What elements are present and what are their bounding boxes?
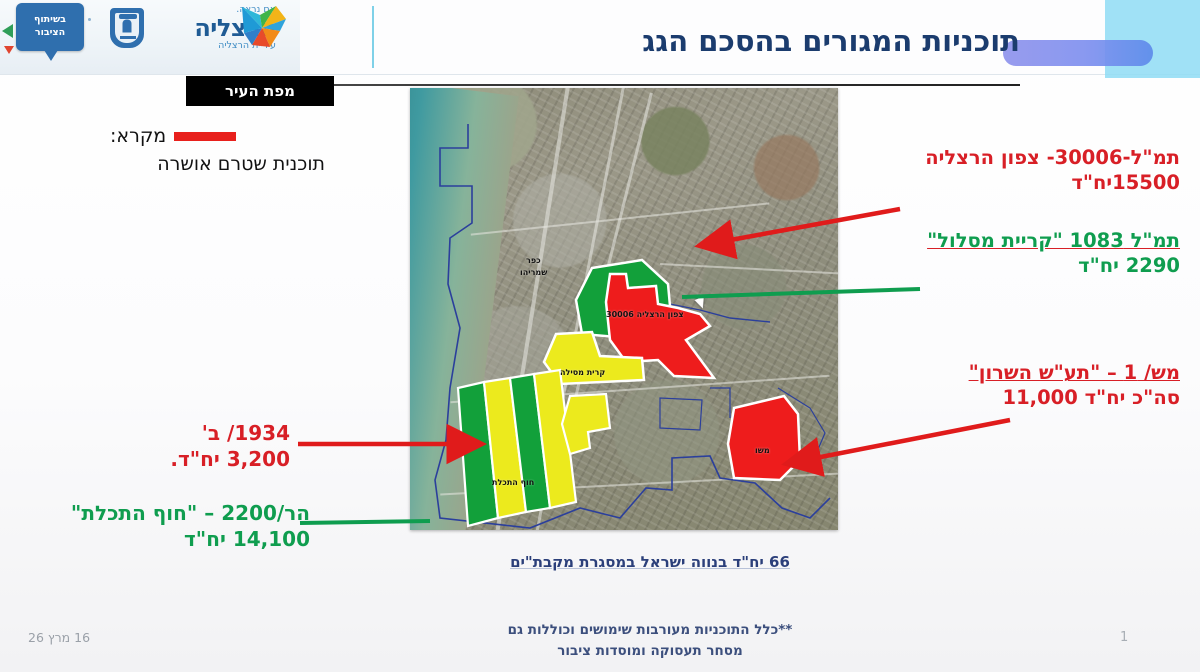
annotation-kiryat-maslul-line2: 2290 יח"ד xyxy=(880,253,1180,278)
map-label-kiryat-maslul: קרית מסילה xyxy=(560,368,605,377)
footer-note-line1: **כלל התוכניות מעורבות שימושים וכוללות ג… xyxy=(380,620,920,641)
annotation-taash-hasharon-line2: סה"כ יח"ד 11,000 xyxy=(880,385,1180,410)
page-title: תוכניות המגורים בהסכם הגג xyxy=(380,18,1020,64)
map-imagery: כפר שמריהו צפון הרצליה 30006 קרית מסילה … xyxy=(410,88,838,530)
annotation-hof-hatchelet-line1: הר/2200 – "חוף התכלת" xyxy=(20,500,310,526)
footer-note: **כלל התוכניות מעורבות שימושים וכוללות ג… xyxy=(380,620,920,662)
map-label-mash: משו xyxy=(755,446,770,455)
annotation-kiryat-maslul: תמ"ל 1083 "קריית מסלול" 2290 יח"ד xyxy=(880,228,1180,279)
annotation-plan-1934b: 1934/ ב' 3,200 יח"ד. xyxy=(40,420,290,472)
date-stamp: 16 מרץ 26 xyxy=(28,630,90,645)
annotation-north-herzliya-line2: 15500יח"ד xyxy=(880,170,1180,195)
public-participation-badge: בשיתוף הציבור xyxy=(16,3,84,51)
note-neve-israel: 66 יח"ד בנווה ישראל במסגרת מקבת"ים xyxy=(420,553,880,571)
annotation-taash-hasharon-line1: מש/ 1 – "תע"ש השרון" xyxy=(880,360,1180,385)
footer-note-line2: מסחר תעסוקה ומוסדות ציבור xyxy=(380,641,920,662)
legend-description: תוכנית שטרם אושרה xyxy=(110,153,325,175)
red-triangle-icon xyxy=(4,46,14,54)
decor-blue-bar xyxy=(1003,40,1153,66)
slide-canvas: בשיתוף הציבור אם נרצה. הרצליה עיריית הרצ… xyxy=(0,0,1200,672)
title-accent-rule xyxy=(372,6,374,68)
map-label-hof-hatchelet: חוף התכלת xyxy=(492,478,534,487)
green-triangle-icon xyxy=(2,24,13,38)
annotation-kiryat-maslul-line1: תמ"ל 1083 "קריית מסלול" xyxy=(880,228,1180,253)
city-crest-icon xyxy=(110,8,144,48)
annotation-taash-hasharon: מש/ 1 – "תע"ש השרון" סה"כ יח"ד 11,000 xyxy=(880,360,1180,411)
map-section-label: מפת העיר xyxy=(186,76,334,106)
decor-dot xyxy=(88,18,91,21)
legend: מקרא: תוכנית שטרם אושרה xyxy=(110,125,325,175)
herzliya-star-icon xyxy=(236,5,288,51)
city-aerial-map[interactable]: כפר שמריהו צפון הרצליה 30006 קרית מסילה … xyxy=(410,88,838,530)
legend-title: מקרא: xyxy=(110,125,166,147)
badge-line-1: בשיתוף xyxy=(34,14,66,27)
note-neve-israel-text: 66 יח"ד בנווה ישראל במסגרת מקבת"ים xyxy=(510,553,790,571)
page-number: 1 xyxy=(1120,630,1128,645)
annotation-north-herzliya: תמ"ל-30006- צפון הרצליה 15500יח"ד xyxy=(880,145,1180,196)
annotation-hof-hatchelet-line2: 14,100 יח"ד xyxy=(20,526,310,552)
map-label-north-herzliya: צפון הרצליה 30006 xyxy=(606,310,684,319)
annotation-hof-hatchelet: הר/2200 – "חוף התכלת" 14,100 יח"ד xyxy=(20,500,310,552)
legend-swatch-red xyxy=(174,132,236,141)
badge-line-2: הציבור xyxy=(35,27,65,40)
decor-cyan-block xyxy=(1105,0,1200,78)
annotation-north-herzliya-line1: תמ"ל-30006- צפון הרצליה xyxy=(880,145,1180,170)
annotation-plan-1934b-line1: 1934/ ב' xyxy=(40,420,290,446)
annotation-plan-1934b-line2: 3,200 יח"ד. xyxy=(40,446,290,472)
